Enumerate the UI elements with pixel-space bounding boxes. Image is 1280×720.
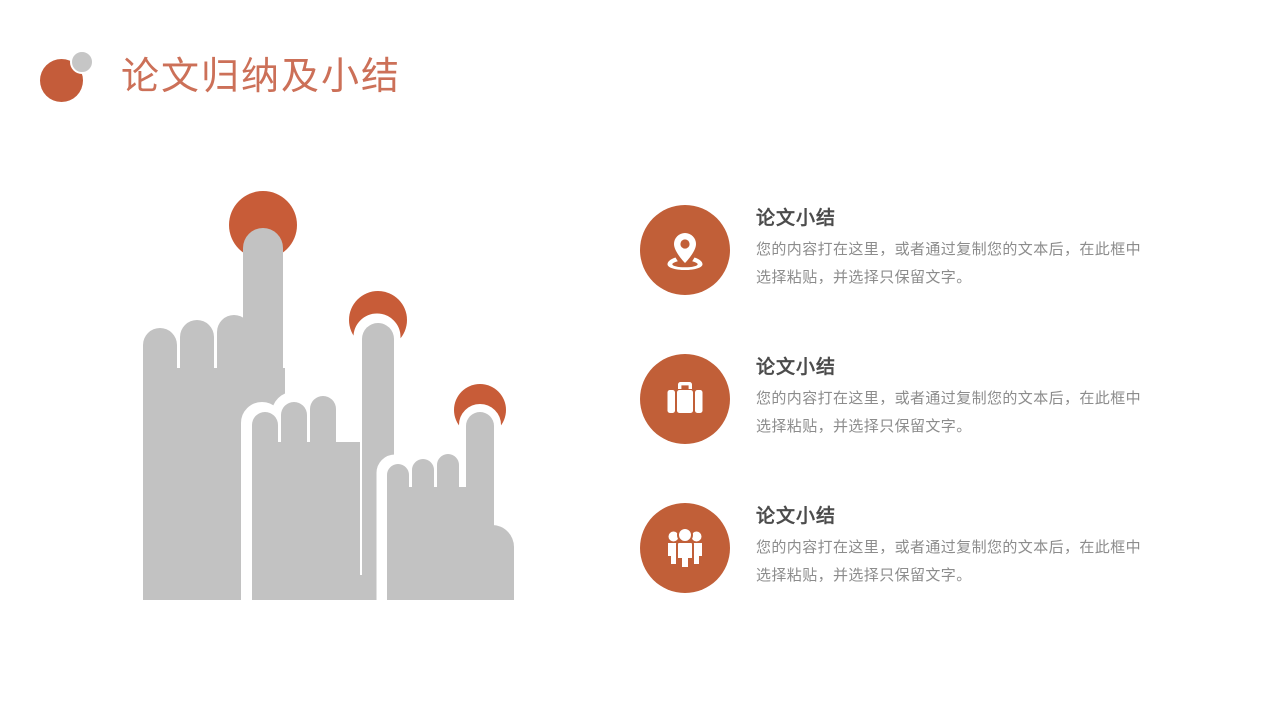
page-title: 论文归纳及小结	[121, 57, 401, 95]
list-item[interactable]: 论文小结 您的内容打在这里，或者通过复制您的文本后，在此框中选择粘贴，并选择只保…	[640, 354, 1160, 444]
list-item-body: 您的内容打在这里，或者通过复制您的文本后，在此框中选择粘贴，并选择只保留文字。	[756, 385, 1144, 441]
list-item-title: 论文小结	[756, 207, 1144, 231]
list-item-title: 论文小结	[756, 505, 1144, 529]
title-logo	[40, 50, 102, 102]
list-item[interactable]: 论文小结 您的内容打在这里，或者通过复制您的文本后，在此框中选择粘贴，并选择只保…	[640, 503, 1160, 593]
circle-small-icon	[70, 50, 94, 74]
group-people-icon	[640, 503, 730, 593]
list-item-text: 论文小结 您的内容打在这里，或者通过复制您的文本后，在此框中选择粘贴，并选择只保…	[756, 354, 1144, 440]
slide-canvas: 论文归纳及小结	[0, 0, 1280, 720]
three-pointing-hands-illustration	[130, 185, 530, 615]
list-item[interactable]: 论文小结 您的内容打在这里，或者通过复制您的文本后，在此框中选择粘贴，并选择只保…	[640, 205, 1160, 295]
slide-title-bar: 论文归纳及小结	[40, 44, 401, 108]
briefcase-icon	[640, 354, 730, 444]
location-pin-person-icon	[640, 205, 730, 295]
summary-list: 论文小结 您的内容打在这里，或者通过复制您的文本后，在此框中选择粘贴，并选择只保…	[640, 205, 1160, 593]
hand-small	[383, 384, 514, 600]
list-item-title: 论文小结	[756, 356, 1144, 380]
list-item-body: 您的内容打在这里，或者通过复制您的文本后，在此框中选择粘贴，并选择只保留文字。	[756, 534, 1144, 590]
list-item-body: 您的内容打在这里，或者通过复制您的文本后，在此框中选择粘贴，并选择只保留文字。	[756, 236, 1144, 292]
list-item-text: 论文小结 您的内容打在这里，或者通过复制您的文本后，在此框中选择粘贴，并选择只保…	[756, 503, 1144, 589]
list-item-text: 论文小结 您的内容打在这里，或者通过复制您的文本后，在此框中选择粘贴，并选择只保…	[756, 205, 1144, 291]
